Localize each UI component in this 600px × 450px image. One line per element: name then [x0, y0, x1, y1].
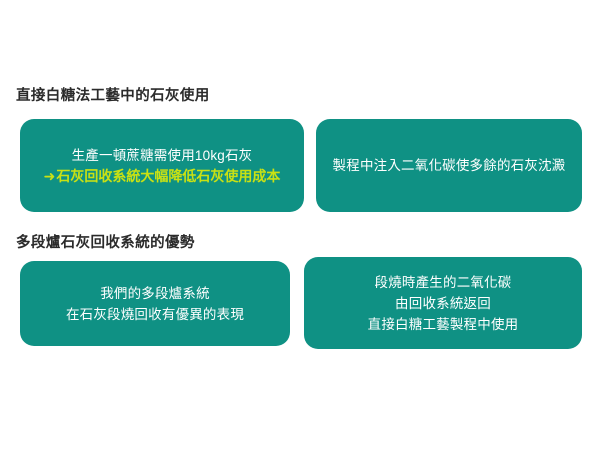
card-multiple-hearth-furnace: 我們的多段爐系統 在石灰段燒回收有優異的表現 [20, 261, 290, 346]
card-line: 我們的多段爐系統 [100, 283, 210, 304]
section-heading-system-advantages: 多段爐石灰回收系統的優勢 [16, 236, 195, 251]
card-lime-consumption: 生產一頓蔗糖需使用10kg石灰 ➜石灰回收系統大幅降低石灰使用成本 [20, 119, 304, 212]
card-co2-injection: 製程中注入二氧化碳使多餘的石灰沈澱 [316, 119, 582, 212]
section-heading-lime-usage: 直接白糖法工藝中的石灰使用 [16, 89, 210, 104]
card-line: 由回收系統返回 [395, 293, 491, 314]
card-line-highlight: ➜石灰回收系統大幅降低石灰使用成本 [44, 166, 281, 187]
card-co2-recycle-loop: 段燒時產生的二氧化碳 由回收系統返回 直接白糖工藝製程中使用 [304, 257, 582, 349]
card-line: 製程中注入二氧化碳使多餘的石灰沈澱 [333, 155, 566, 176]
card-line: 生產一頓蔗糖需使用10kg石灰 [72, 145, 253, 166]
card-line: 直接白糖工藝製程中使用 [368, 314, 519, 335]
card-line: 段燒時產生的二氧化碳 [375, 272, 512, 293]
card-line-highlight-label: 石灰回收系統大幅降低石灰使用成本 [56, 168, 280, 184]
card-line: 在石灰段燒回收有優異的表現 [66, 304, 244, 325]
arrow-right-icon: ➜ [44, 166, 56, 187]
slide-canvas: 直接白糖法工藝中的石灰使用 生產一頓蔗糖需使用10kg石灰 ➜石灰回收系統大幅降… [0, 0, 600, 450]
